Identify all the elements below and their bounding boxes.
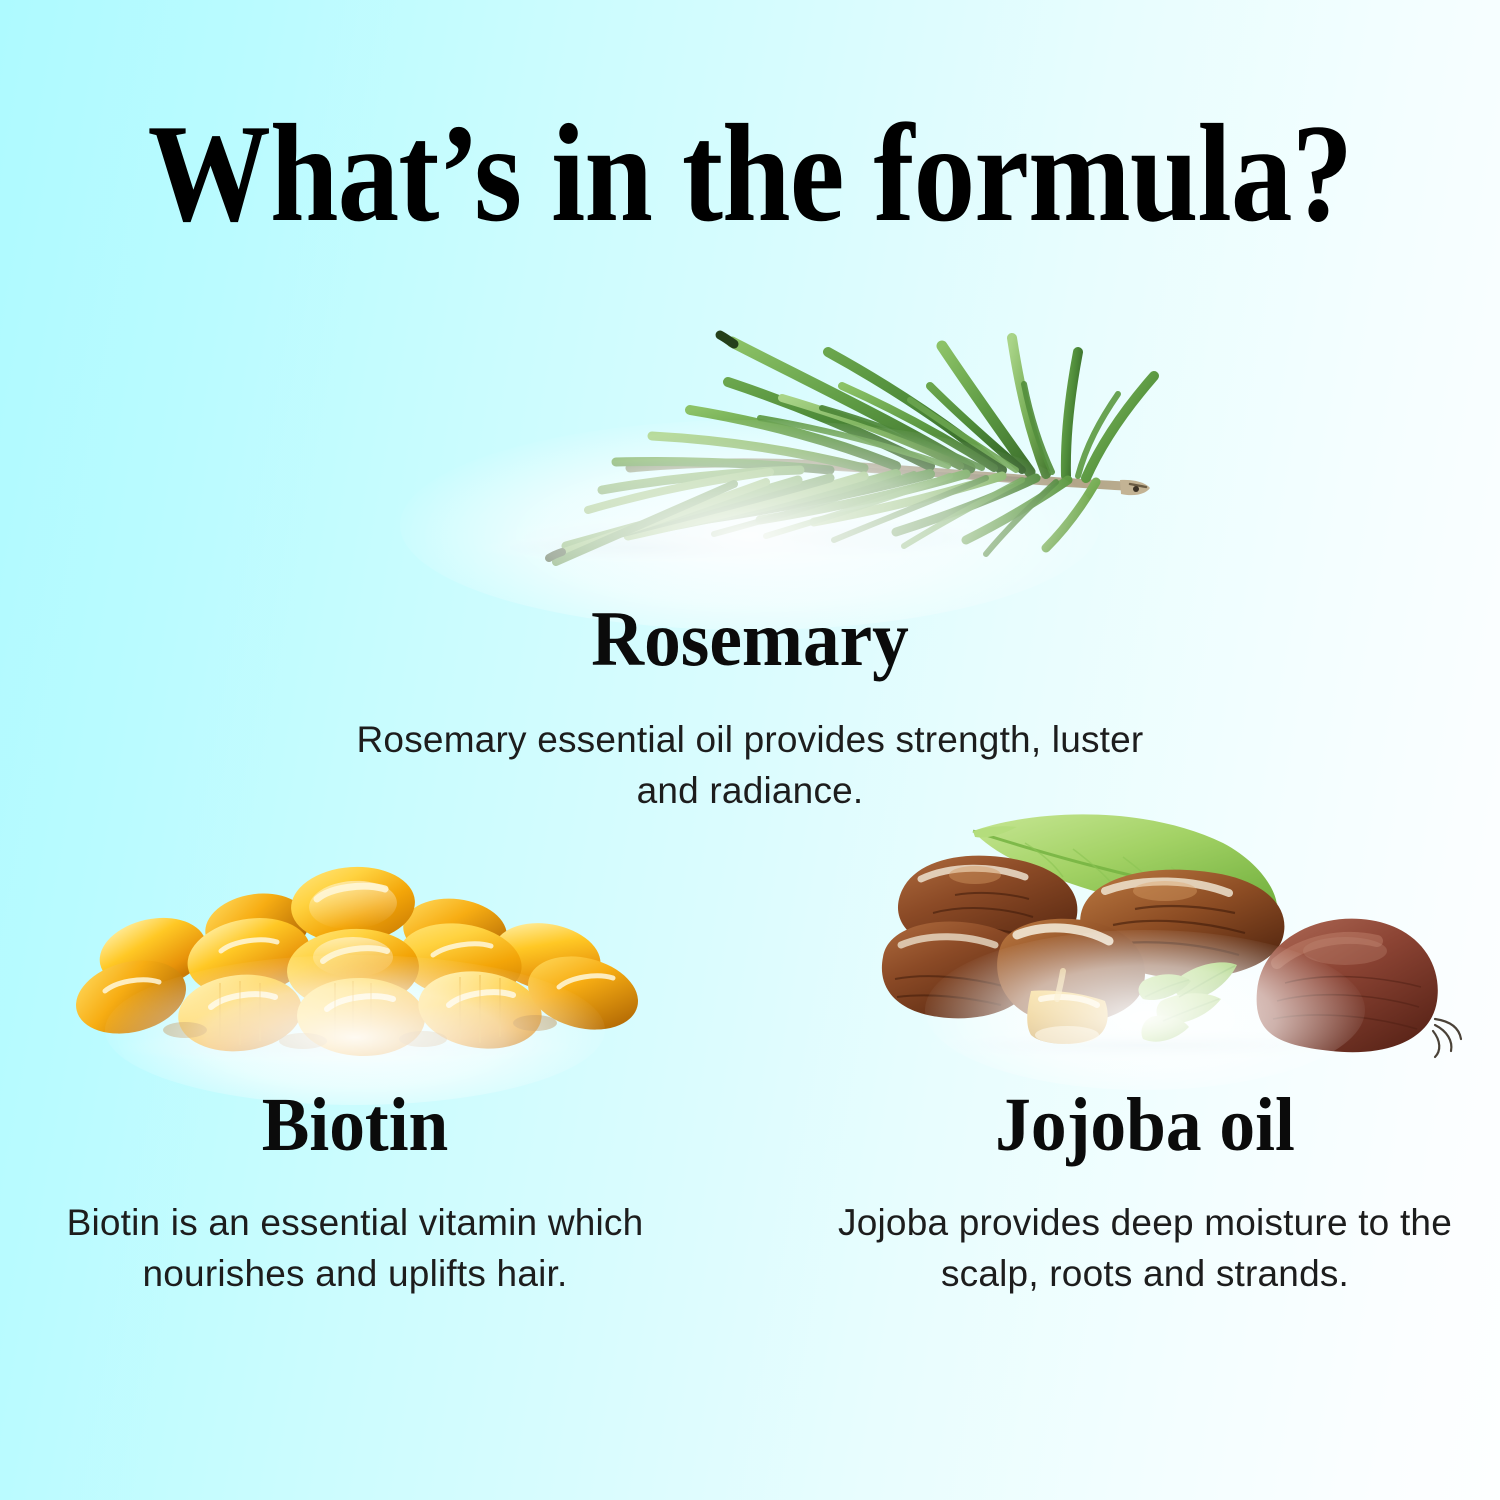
jojoba-seeds-and-leaves-illustration <box>825 795 1465 1065</box>
ingredient-title-biotin: Biotin <box>54 1087 656 1163</box>
ingredient-card-biotin: Biotin Biotin is an essential vitamin wh… <box>35 865 675 1299</box>
ingredient-description-biotin: Biotin is an essential vitamin which nou… <box>35 1197 675 1299</box>
ingredient-title-rosemary: Rosemary <box>355 600 1145 678</box>
ingredient-card-rosemary: Rosemary Rosemary essential oil provides… <box>330 290 1170 816</box>
ingredient-title-jojoba: Jojoba oil <box>844 1087 1446 1163</box>
biotin-softgel-capsules-illustration <box>35 865 675 1065</box>
rosemary-sprig-illustration <box>330 290 1170 590</box>
infographic-canvas: What’s in the formula? <box>0 0 1500 1500</box>
ingredient-card-jojoba: Jojoba oil Jojoba provides deep moisture… <box>825 795 1465 1299</box>
page-title: What’s in the formula? <box>90 104 1410 244</box>
ingredient-description-jojoba: Jojoba provides deep moisture to the sca… <box>825 1197 1465 1299</box>
